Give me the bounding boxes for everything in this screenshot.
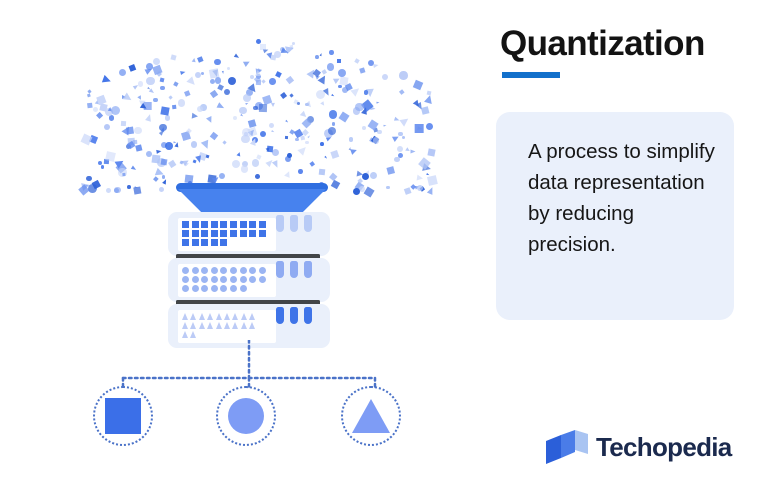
triangle-particle-icon [206, 116, 214, 124]
circle-particle-icon [93, 107, 98, 112]
square-particle-icon [318, 169, 325, 176]
circle-particle-icon [269, 123, 274, 128]
triangle-icon [182, 331, 188, 338]
rack-glyph-row [182, 239, 276, 248]
circle-icon [220, 285, 227, 292]
square-particle-icon [359, 67, 365, 73]
circle-icon [201, 276, 208, 283]
square-particle-icon [222, 140, 226, 144]
output-node-square [93, 386, 153, 446]
circle-particle-icon [159, 187, 164, 192]
square-icon [182, 230, 189, 237]
triangle-icon [249, 322, 255, 329]
square-icon [192, 239, 199, 246]
square-particle-icon [159, 78, 164, 83]
rack-glyph-grid-triangles [178, 310, 276, 343]
circle-particle-icon [397, 146, 403, 152]
circle-particle-icon [398, 153, 403, 158]
triangle-icon [207, 313, 213, 320]
square-icon [211, 221, 218, 228]
square-icon [105, 398, 141, 434]
triangle-particle-icon [410, 149, 415, 153]
circle-particle-icon [146, 63, 153, 70]
logo-shard-middle [561, 430, 575, 458]
logo-shard-front [546, 435, 561, 464]
circle-icon [240, 267, 247, 274]
circle-particle-icon [119, 69, 126, 76]
square-particle-icon [331, 180, 341, 190]
square-particle-icon [428, 149, 436, 157]
triangle-icon [224, 313, 230, 320]
square-icon [220, 230, 227, 237]
circle-icon [249, 276, 256, 283]
square-particle-icon [87, 94, 91, 98]
quantization-illustration [0, 0, 492, 486]
triangle-icon [241, 322, 247, 329]
circle-icon [249, 267, 256, 274]
circle-particle-icon [111, 106, 120, 115]
circle-particle-icon [197, 106, 203, 112]
triangle-particle-icon [162, 178, 168, 184]
triangle-particle-icon [250, 137, 258, 146]
circle-particle-icon [233, 116, 237, 120]
triangle-icon [241, 313, 247, 320]
rack-glyph-row [182, 221, 276, 230]
square-particle-icon [271, 55, 276, 60]
triangle-icon [199, 322, 205, 329]
circle-particle-icon [287, 153, 292, 158]
square-particle-icon [168, 95, 172, 99]
circle-icon [259, 267, 266, 274]
square-particle-icon [184, 174, 192, 182]
triangle-particle-icon [159, 129, 165, 135]
square-particle-icon [121, 173, 125, 177]
square-particle-icon [135, 144, 142, 151]
circle-particle-icon [134, 127, 142, 135]
circle-particle-icon [269, 78, 275, 84]
circle-particle-icon [328, 127, 336, 135]
circle-particle-icon [255, 174, 260, 179]
circle-particle-icon [329, 110, 338, 119]
title-underline-rule [502, 72, 560, 78]
triangle-icon [216, 322, 222, 329]
triangle-particle-icon [180, 70, 186, 75]
triangle-icon [190, 313, 196, 320]
circle-icon [220, 276, 227, 283]
rack-indicator-tabs [276, 215, 316, 233]
triangle-icon [249, 313, 255, 320]
triangle-icon [199, 313, 205, 320]
page-title: Quantization [500, 24, 705, 64]
square-particle-icon [210, 131, 218, 139]
rack-glyph-row [182, 267, 276, 276]
circle-icon [192, 276, 199, 283]
triangle-icon [182, 322, 188, 329]
triangle-particle-icon [156, 149, 162, 154]
square-particle-icon [256, 80, 261, 85]
triangle-particle-icon [131, 165, 137, 171]
square-particle-icon [87, 102, 93, 108]
triangle-particle-icon [427, 186, 435, 195]
circle-particle-icon [215, 77, 222, 84]
square-particle-icon [413, 80, 424, 91]
square-icon [259, 230, 266, 237]
square-particle-icon [205, 155, 209, 159]
text-column: Quantization A process to simplify data … [492, 0, 768, 486]
circle-particle-icon [201, 72, 204, 75]
square-particle-icon [128, 64, 136, 72]
triangle-particle-icon [332, 94, 336, 97]
square-icon [230, 221, 237, 228]
square-particle-icon [198, 57, 204, 63]
circle-particle-icon [106, 188, 112, 194]
definition-card: A process to simplify data representatio… [496, 112, 734, 320]
circle-particle-icon [327, 63, 334, 70]
circle-particle-icon [295, 138, 298, 141]
square-particle-icon [285, 136, 288, 139]
circle-particle-icon [332, 122, 336, 126]
circle-particle-icon [241, 165, 248, 172]
triangle-particle-icon [245, 102, 249, 105]
square-particle-icon [161, 159, 168, 166]
circle-particle-icon [316, 90, 325, 99]
square-particle-icon [330, 149, 339, 158]
circle-icon [230, 285, 237, 292]
triangle-particle-icon [255, 70, 261, 76]
triangle-particle-icon [399, 115, 410, 126]
square-particle-icon [179, 161, 183, 165]
square-icon [211, 239, 218, 246]
rack-tab [290, 215, 298, 232]
circle-icon [211, 267, 218, 274]
circle-particle-icon [114, 188, 119, 193]
rack-glyph-row [182, 322, 276, 331]
circle-particle-icon [377, 130, 381, 134]
triangle-icon [182, 313, 188, 320]
triangle-particle-icon [384, 124, 387, 127]
output-node-circle [216, 386, 276, 446]
circle-particle-icon [195, 72, 201, 78]
triangle-particle-icon [200, 139, 210, 149]
rack-tab [276, 215, 284, 232]
square-particle-icon [286, 76, 294, 84]
square-particle-icon [363, 186, 374, 197]
square-icon [249, 221, 256, 228]
circle-icon [240, 285, 247, 292]
square-particle-icon [399, 89, 404, 94]
triangle-particle-icon [417, 174, 424, 181]
triangle-icon [190, 322, 196, 329]
square-particle-icon [415, 124, 424, 133]
logo-shard-back [575, 430, 588, 454]
square-particle-icon [421, 106, 429, 114]
triangle-icon [352, 399, 390, 433]
triangle-particle-icon [236, 151, 241, 156]
square-particle-icon [247, 127, 258, 138]
techopedia-logo-mark [544, 428, 590, 466]
triangle-particle-icon [191, 113, 198, 120]
circle-particle-icon [191, 141, 198, 148]
circle-particle-icon [98, 99, 103, 104]
triangle-particle-icon [324, 156, 328, 160]
triangle-icon [207, 322, 213, 329]
circle-particle-icon [243, 94, 251, 102]
circle-icon [192, 285, 199, 292]
rack-tab [276, 307, 284, 324]
triangle-particle-icon [271, 129, 275, 132]
output-node-triangle [341, 386, 401, 446]
square-icon [249, 230, 256, 237]
rack-tab [304, 307, 312, 324]
circle-particle-icon [305, 103, 308, 106]
square-icon [230, 230, 237, 237]
circle-particle-icon [260, 131, 266, 137]
circle-icon [182, 285, 189, 292]
circle-particle-icon [165, 115, 170, 120]
circle-particle-icon [402, 136, 405, 139]
techopedia-logo[interactable]: Techopedia [544, 424, 764, 470]
circle-icon [240, 276, 247, 283]
circle-particle-icon [253, 106, 257, 110]
square-particle-icon [354, 58, 359, 63]
square-icon [220, 221, 227, 228]
circle-particle-icon [101, 165, 105, 169]
circle-particle-icon [232, 160, 240, 168]
circle-particle-icon [104, 124, 110, 130]
circle-particle-icon [349, 137, 354, 142]
square-particle-icon [168, 159, 177, 168]
circle-particle-icon [373, 137, 379, 143]
circle-particle-icon [224, 89, 230, 95]
circle-particle-icon [297, 102, 301, 106]
triangle-particle-icon [320, 101, 326, 107]
circle-particle-icon [382, 74, 388, 80]
triangle-particle-icon [243, 59, 251, 67]
circle-particle-icon [214, 59, 221, 66]
square-icon [211, 230, 218, 237]
circle-particle-icon [329, 50, 334, 55]
circle-particle-icon [298, 169, 303, 174]
square-particle-icon [300, 136, 304, 140]
circle-particle-icon [178, 99, 185, 106]
triangle-particle-icon [320, 53, 323, 57]
square-particle-icon [248, 119, 256, 127]
triangle-particle-icon [265, 147, 270, 152]
square-particle-icon [121, 120, 126, 125]
triangle-particle-icon [394, 116, 400, 121]
circle-icon [201, 267, 208, 274]
rack-glyph-row [182, 331, 276, 340]
square-particle-icon [309, 161, 315, 167]
circle-particle-icon [315, 55, 319, 59]
server-rack-circles [168, 258, 330, 302]
circle-particle-icon [160, 86, 164, 90]
triangle-icon [232, 322, 238, 329]
square-particle-icon [337, 59, 341, 63]
triangle-particle-icon [217, 102, 226, 111]
triangle-particle-icon [280, 48, 289, 56]
circle-particle-icon [228, 77, 236, 85]
square-particle-icon [133, 186, 141, 194]
square-particle-icon [290, 93, 294, 97]
square-particle-icon [170, 54, 176, 60]
circle-particle-icon [239, 107, 247, 115]
rack-indicator-tabs [276, 307, 316, 325]
square-icon [201, 230, 208, 237]
circle-particle-icon [370, 172, 377, 179]
square-icon [192, 221, 199, 228]
rack-glyph-grid-circles [178, 264, 276, 297]
circle-particle-icon [399, 71, 407, 79]
triangle-particle-icon [102, 75, 112, 85]
circle-icon [230, 267, 237, 274]
square-icon [201, 239, 208, 246]
rack-glyph-row [182, 285, 276, 294]
techopedia-wordmark: Techopedia [596, 432, 732, 463]
square-icon [240, 230, 247, 237]
circle-icon [211, 285, 218, 292]
rack-glyph-row [182, 230, 276, 239]
square-particle-icon [210, 90, 218, 98]
circle-icon [182, 276, 189, 283]
circle-particle-icon [362, 173, 369, 180]
square-particle-icon [386, 166, 395, 175]
rack-tab [290, 307, 298, 324]
square-icon [182, 221, 189, 228]
square-icon [220, 239, 227, 246]
triangle-particle-icon [284, 170, 292, 178]
triangle-icon [216, 313, 222, 320]
square-particle-icon [410, 184, 416, 190]
triangle-particle-icon [145, 113, 153, 121]
circle-particle-icon [417, 185, 423, 191]
rack-tab [290, 261, 298, 278]
circle-particle-icon [272, 149, 279, 156]
circle-particle-icon [227, 67, 230, 70]
rack-tab [304, 261, 312, 278]
circle-particle-icon [146, 77, 155, 86]
circle-particle-icon [355, 103, 363, 111]
circle-particle-icon [153, 98, 158, 103]
square-particle-icon [187, 128, 193, 134]
triangle-particle-icon [350, 147, 358, 155]
triangle-particle-icon [297, 144, 308, 155]
square-particle-icon [280, 92, 287, 99]
triangle-particle-icon [222, 71, 224, 74]
square-particle-icon [185, 90, 191, 96]
square-particle-icon [96, 112, 103, 119]
rack-indicator-tabs [276, 261, 316, 279]
rack-glyph-grid-squares [178, 218, 276, 251]
triangle-particle-icon [377, 101, 380, 103]
circle-particle-icon [386, 186, 390, 190]
square-particle-icon [171, 104, 176, 109]
circle-icon [192, 267, 199, 274]
triangle-particle-icon [285, 120, 289, 123]
circle-particle-icon [338, 69, 346, 77]
triangle-particle-icon [234, 54, 240, 60]
circle-particle-icon [146, 151, 152, 157]
square-particle-icon [275, 71, 282, 78]
circle-particle-icon [426, 123, 434, 131]
square-particle-icon [339, 111, 350, 122]
rack-glyph-row [182, 313, 276, 322]
triangle-icon [190, 331, 196, 338]
square-icon [259, 221, 266, 228]
triangle-particle-icon [186, 77, 197, 88]
triangle-particle-icon [174, 141, 179, 147]
circle-particle-icon [362, 126, 366, 130]
data-particle-cloud [78, 38, 430, 188]
circle-particle-icon [353, 188, 360, 195]
triangle-particle-icon [373, 63, 379, 68]
circle-particle-icon [252, 159, 259, 166]
circle-particle-icon [127, 185, 131, 189]
square-particle-icon [160, 106, 170, 116]
circle-icon [259, 276, 266, 283]
server-rack-squares [168, 212, 330, 256]
circle-icon [228, 398, 264, 434]
triangle-particle-icon [240, 114, 244, 117]
triangle-icon [232, 313, 238, 320]
circle-icon [211, 276, 218, 283]
square-particle-icon [105, 151, 116, 162]
square-icon [201, 221, 208, 228]
triangle-particle-icon [307, 135, 310, 139]
square-particle-icon [132, 140, 136, 144]
triangle-particle-icon [192, 58, 197, 63]
triangle-particle-icon [424, 94, 434, 104]
circle-particle-icon [338, 85, 341, 88]
square-icon [192, 230, 199, 237]
rack-tab [276, 261, 284, 278]
square-icon [240, 221, 247, 228]
circle-icon [182, 267, 189, 274]
circle-particle-icon [109, 115, 114, 120]
circle-icon [230, 276, 237, 283]
square-particle-icon [258, 104, 267, 113]
circle-particle-icon [305, 141, 309, 145]
circle-icon [201, 285, 208, 292]
circle-particle-icon [320, 142, 324, 146]
square-particle-icon [262, 80, 266, 84]
triangle-particle-icon [326, 136, 332, 142]
definition-text: A process to simplify data representatio… [528, 136, 718, 260]
rack-tab [304, 215, 312, 232]
rack-glyph-row [182, 276, 276, 285]
circle-icon [220, 267, 227, 274]
circle-particle-icon [165, 142, 173, 150]
triangle-particle-icon [149, 88, 155, 94]
triangle-icon [224, 322, 230, 329]
circle-particle-icon [256, 39, 261, 44]
infographic-canvas: Quantization A process to simplify data … [0, 0, 768, 486]
triangle-particle-icon [271, 103, 275, 107]
square-particle-icon [173, 81, 178, 86]
square-particle-icon [427, 175, 438, 186]
square-particle-icon [156, 71, 162, 77]
square-icon [182, 239, 189, 246]
